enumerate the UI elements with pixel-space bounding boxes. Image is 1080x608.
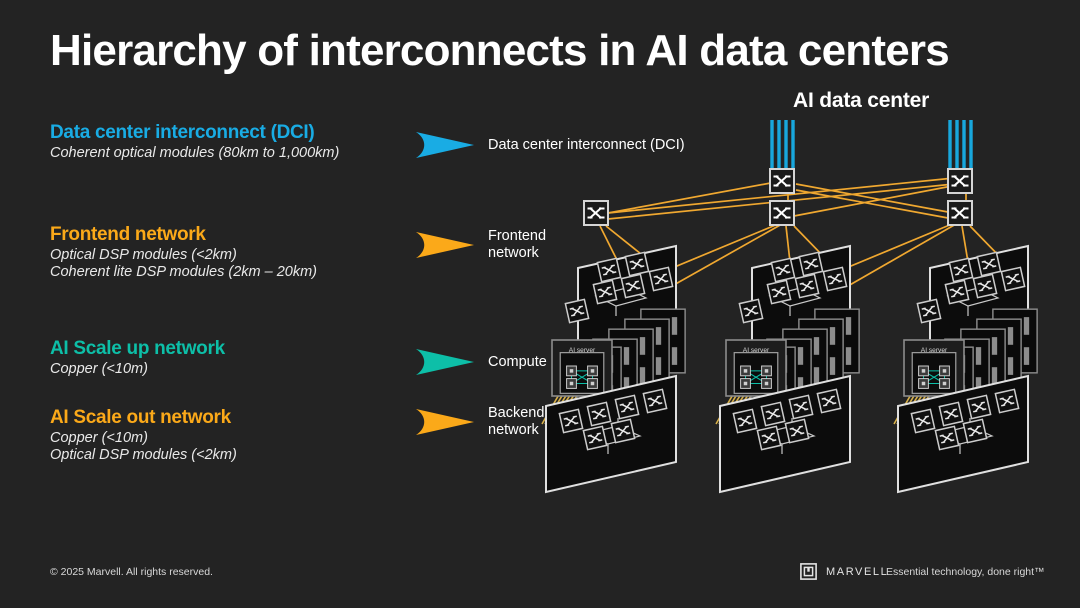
rack-1-bot-switch-1 [643,389,666,412]
rack-1-top-switch-3 [649,267,672,290]
rack-3: AI server [894,246,1037,492]
rack-1: AI server [542,246,685,492]
callout-dci: Data center interconnect (DCI) [416,128,685,162]
rack-3-server-5 [977,319,1021,383]
legend-item-scale-out-line-1: Optical DSP modules (<2km) [50,447,237,464]
rack-2-server-stack: AI server [726,309,859,411]
rack-1-bot-switch-2 [615,395,638,418]
rack-2-bot-switch-6 [757,426,780,449]
rack-1-cable-bundle [542,334,676,424]
rack-2-bot-switch-3 [761,402,784,425]
legend-item-scale-up-line-0: Copper (<10m) [50,361,225,378]
rack-3-bot-switch-4 [911,409,934,432]
rack-3-cable-bundle [894,334,1028,424]
rack-3-top-switch-4 [973,274,996,297]
rack-2-top-switch-3 [823,267,846,290]
interconnect-links [600,150,1080,293]
rack-3-server-6 [993,309,1037,373]
rack-2-bot-switch-5 [785,419,808,442]
arrow-icon-compute [416,345,474,379]
callout-frontend-line-1: Frontend [488,228,546,244]
rack-1-top-switch-2 [625,252,648,275]
rack-1-bot-switch-3 [587,402,610,425]
slide-root: Hierarchy of interconnects in AI data ce… [0,0,1080,608]
legend-item-scale-up-title: AI Scale up network [50,338,225,360]
rack-2-server-1-shell [726,340,786,396]
rack-2-top-switch-4 [795,274,818,297]
callout-compute-label: Compute [488,354,547,371]
fiber-bundle-left [772,120,793,171]
spine-switch-dci-right [948,169,972,193]
spine-switch-right [948,201,972,225]
rack-2: AI server [716,246,859,492]
rack-1-server-label: AI server [569,347,596,354]
rack-1-server-1-shell [552,340,612,396]
legend-item-scale-out: AI Scale out network Copper (<10m) Optic… [50,407,237,464]
rack-2-server-4 [783,329,827,393]
callout-backend: Backendnetwork [416,405,544,439]
legend-item-frontend-line-0: Optical DSP modules (<2km) [50,247,317,264]
spine-switch-left [584,201,608,225]
rack-1-server-2 [577,347,621,411]
rack-2-top-switch-1 [771,258,794,281]
marvell-tagline: Essential technology, done right™ [886,566,1045,578]
rack-2-server-6 [815,309,859,373]
callout-backend-line-2: network [488,422,539,438]
rack-3-top-switch-1 [949,258,972,281]
rack-2-bot-switch-4 [733,409,756,432]
rack-1-bottom-panel [546,376,676,492]
rack-1-server-4 [609,329,653,393]
legend-item-scale-up: AI Scale up network Copper (<10m) [50,338,225,378]
legend-item-dci-line-0: Coherent optical modules (80km to 1,000k… [50,145,339,162]
callout-backend-label: Backendnetwork [488,405,544,439]
rack-2-cable-bundle [716,334,850,424]
rack-3-bottom-panel [898,376,1028,492]
callout-frontend: Frontendnetwork [416,228,546,262]
page-title: Hierarchy of interconnects in AI data ce… [50,26,949,76]
rack-2-server-5 [799,319,843,383]
rack-2-server-1 [734,353,778,394]
legend-item-frontend-title: Frontend network [50,224,317,246]
rack-3-server-1 [912,353,956,394]
rack-1-server-1 [560,353,604,394]
legend-item-frontend-line-1: Coherent lite DSP modules (2km – 20km) [50,264,317,281]
rack-3-bot-switch-2 [967,395,990,418]
rack-1-bot-switch-6 [583,426,606,449]
marvell-logo: MARVELL [800,563,888,580]
rack-2-bottom-panel [720,376,850,492]
rack-2-bot-switch-2 [789,395,812,418]
callout-frontend-label: Frontendnetwork [488,228,546,262]
arrow-icon-backend [416,405,474,439]
legend-item-frontend: Frontend network Optical DSP modules (<2… [50,224,317,281]
rack-2-server-3 [767,339,811,403]
callout-backend-line-1: Backend [488,405,544,421]
ai-data-center-heading: AI data center [793,89,929,113]
rack-2-bot-switch-1 [817,389,840,412]
marvell-wordmark: MARVELL [826,566,888,578]
legend-item-scale-out-title: AI Scale out network [50,407,237,429]
rack-3-bot-switch-3 [939,402,962,425]
rack-3-server-4 [961,329,1005,393]
rack-1-cable-fan [584,290,676,364]
rack-2-top-panel [739,246,850,356]
copyright-text: © 2025 Marvell. All rights reserved. [50,566,213,578]
rack-2-server-label: AI server [743,347,770,354]
rack-1-top-switch-6 [565,299,588,322]
rack-2-top-switch-5 [767,280,790,303]
callout-frontend-line-2: network [488,245,539,261]
arrow-icon-frontend [416,228,474,262]
rack-1-server-5 [625,319,669,383]
rack-3-bot-switch-6 [935,426,958,449]
rack-3-server-3 [945,339,989,403]
rack-1-top-switch-5 [593,280,616,303]
rack-3-server-stack: AI server [904,309,1037,411]
rack-3-top-switch-6 [917,299,940,322]
legend-item-dci-title: Data center interconnect (DCI) [50,122,339,144]
arrow-icon-dci [416,128,474,162]
rack-1-server-6 [641,309,685,373]
rack-1-top-panel [565,246,676,356]
rack-3-top-switch-2 [977,252,1000,275]
rack-3-server-2 [929,347,973,411]
callout-compute: Compute [416,345,547,379]
spine-switch-dci-left [770,169,794,193]
rack-3-top-switch-3 [1001,267,1024,290]
rack-1-top-switch-4 [621,274,644,297]
spine-switches [584,169,972,225]
rack-3-server-1-shell [904,340,964,396]
rack-3-bot-switch-1 [995,389,1018,412]
rack-1-server-stack: AI server [552,309,685,411]
callout-dci-label: Data center interconnect (DCI) [488,137,685,154]
fiber-bundle-right [950,120,971,171]
rack-2-top-switch-6 [739,299,762,322]
rack-3-bot-switch-5 [963,419,986,442]
rack-2-top-switch-2 [799,252,822,275]
spine-switch-mid [770,201,794,225]
rack-1-bot-switch-4 [559,409,582,432]
legend-item-dci: Data center interconnect (DCI) Coherent … [50,122,339,162]
rack-1-server-3 [593,339,637,403]
rack-1-bot-switch-5 [611,419,634,442]
legend-item-scale-out-line-0: Copper (<10m) [50,430,237,447]
rack-3-top-switch-5 [945,280,968,303]
rack-2-server-2 [751,347,795,411]
rack-3-top-panel [917,246,1028,356]
marvell-logo-icon [800,563,817,580]
rack-3-server-label: AI server [921,347,948,354]
rack-1-top-switch-1 [597,258,620,281]
